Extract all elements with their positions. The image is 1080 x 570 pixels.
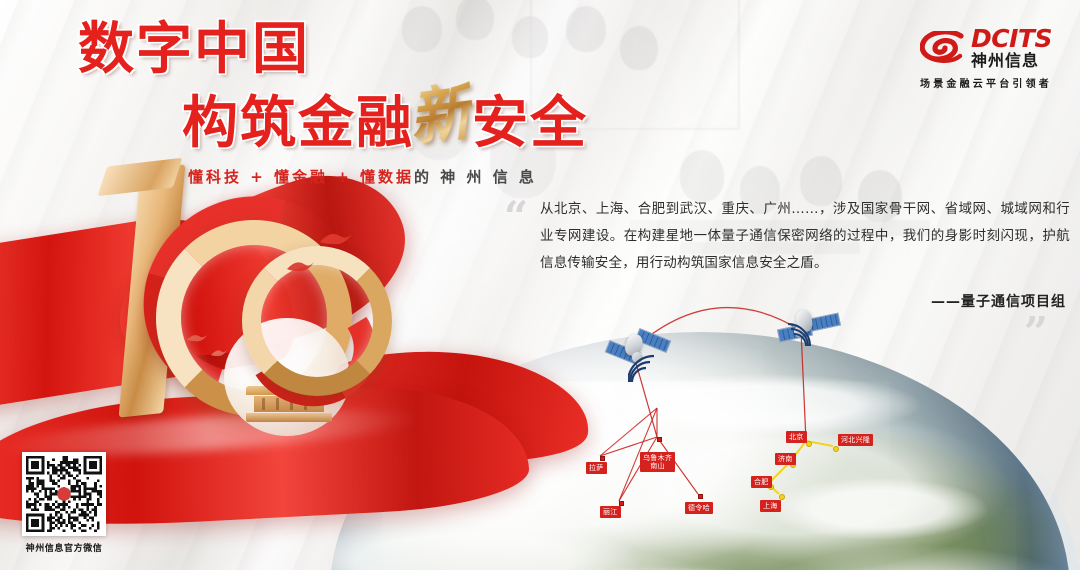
city-label: 济南 xyxy=(775,453,796,465)
headline-block: 数字中国 构筑金融新安全 懂科技 + 懂金融 + 懂数据的 神 州 信 息 xyxy=(70,22,690,187)
logo-brand-cn: 神州信息 xyxy=(971,51,1052,70)
headline-line-2-part-b: 安全 xyxy=(472,91,588,156)
qr-caption: 神州信息官方微信 xyxy=(16,541,112,554)
city-label: 德令哈 xyxy=(685,502,713,514)
gate-column xyxy=(276,398,279,410)
logo-tagline: 场景金融云平台引领者 xyxy=(920,75,1052,90)
quote-text: 从北京、上海、合肥到武汉、重庆、广州……，涉及国家骨干网、省域网、城域网和行业专… xyxy=(540,196,1070,277)
city-label: 上海 xyxy=(760,500,781,512)
headline-line-1: 数字中国 xyxy=(78,22,690,78)
headline-gold-character: 新 xyxy=(406,80,477,149)
dove-icon xyxy=(318,228,354,248)
quote-block: “ 从北京、上海、合肥到武汉、重庆、广州……，涉及国家骨干网、省域网、城域网和行… xyxy=(540,196,1070,311)
logo-row: DCITS 神州信息 xyxy=(920,26,1052,70)
headline-subtitle: 懂科技 + 懂金融 + 懂数据的 神 州 信 息 xyxy=(188,166,690,187)
headline-line-2: 构筑金融新安全 xyxy=(182,90,690,152)
map-node xyxy=(833,446,839,452)
signal-waves-icon xyxy=(784,322,816,348)
satellite-right xyxy=(782,310,838,346)
map-node xyxy=(806,441,812,447)
logo-text: DCITS 神州信息 xyxy=(971,26,1052,70)
dcits-swirl-mark-icon xyxy=(920,31,964,65)
poster-canvas: 拉萨乌鲁木齐南山丽江德令哈北京河北兴隆济南合肥上海 xyxy=(0,0,1080,570)
city-label: 北京 xyxy=(786,431,807,443)
wechat-qr-block: 神州信息官方微信 xyxy=(16,452,112,554)
map-node xyxy=(698,494,703,499)
gate-column xyxy=(262,398,265,410)
subtitle-red-part: 懂科技 + 懂金融 + 懂数据 xyxy=(188,168,414,186)
headline-line-2-part-a: 构筑金融 xyxy=(182,91,414,156)
city-label: 合肥 xyxy=(751,476,772,488)
dove-icon xyxy=(286,258,316,274)
dove-icon xyxy=(186,332,208,344)
emblem-digit-zero-inner xyxy=(242,246,392,396)
qr-code[interactable] xyxy=(22,452,106,536)
dove-icon xyxy=(210,348,228,358)
cpc-centennial-100-emblem xyxy=(96,158,406,458)
subtitle-grey-part: 的 神 州 信 息 xyxy=(414,168,537,186)
dcits-logo: DCITS 神州信息 场景金融云平台引领者 xyxy=(920,26,1052,90)
quote-attribution: ——量子通信项目组 xyxy=(540,291,1070,311)
quote-close-mark: ” xyxy=(1024,308,1048,357)
gate-base xyxy=(246,413,332,422)
quote-open-mark: “ xyxy=(504,192,528,241)
logo-brand-en: DCITS xyxy=(971,26,1052,51)
city-label: 河北兴隆 xyxy=(838,434,873,446)
